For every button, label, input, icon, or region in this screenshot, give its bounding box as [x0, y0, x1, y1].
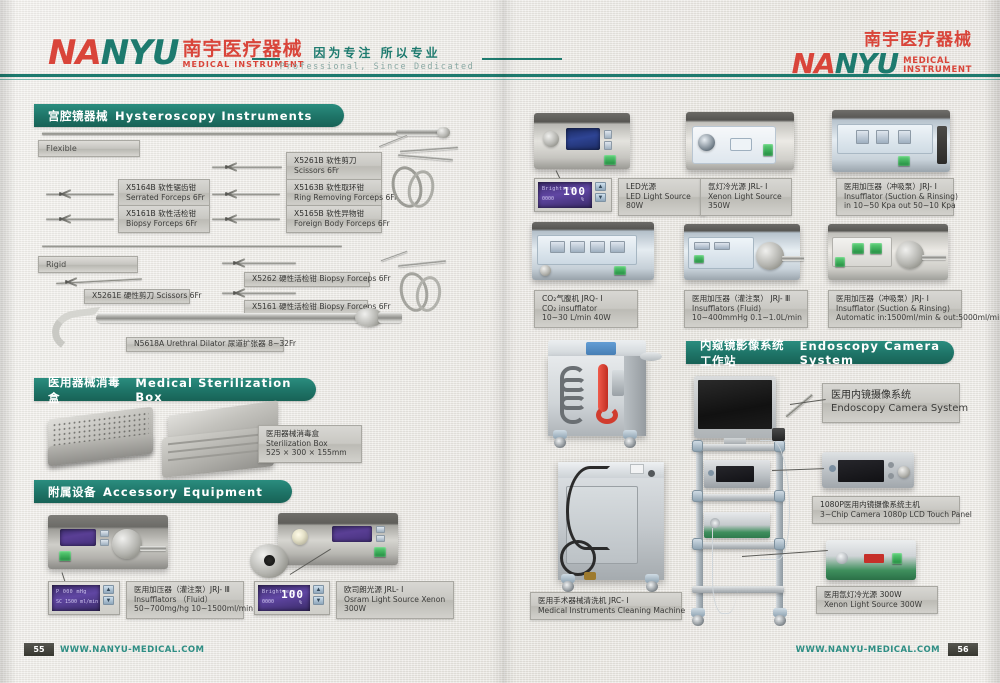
device-co2-insufflator [532, 222, 654, 280]
caption-fluid-spec: 10~400mmHg 0.1~1.0L/min [692, 313, 801, 323]
caption-insufflator-fluid-cn: 医用加压器（灌注泵）JRJ- Ⅲ [134, 585, 237, 595]
caption-xenon-cn: 氙灯冷光源 JRL- Ⅰ [708, 182, 785, 192]
device-power-button-fluid[interactable] [694, 255, 704, 263]
caption-insufflator-fluid-right: 医用加压器（灌注泵） JRJ- Ⅲ Insufflators (Fluid) 1… [684, 290, 808, 328]
lcd-key-up-led[interactable]: ▲ [595, 182, 606, 191]
caption-ring-en: Ring Removing Forceps 6Fr [294, 193, 375, 203]
cart-light-guide-cable [712, 528, 738, 614]
device-ccu-button-b[interactable] [888, 473, 894, 479]
device-xenon300-power-button[interactable] [892, 553, 902, 564]
device-roller-knob[interactable] [112, 529, 142, 559]
device-button-b[interactable] [100, 539, 109, 546]
lcd-key-down-led[interactable]: ▼ [595, 193, 606, 202]
page-number-right: 56 [948, 643, 978, 656]
device-display-co2-d [610, 241, 625, 253]
lcd-label2-osram: 0000 [262, 599, 274, 605]
caption-ring-cn: X5163B 软性取环钳 [294, 183, 375, 193]
caption-osram-spec: 300W [344, 604, 447, 614]
banner-cn-camera: 内窥镜影像系统工作站 [700, 337, 793, 369]
cart-camera-cable [760, 440, 790, 560]
flexible-scope-shaft [42, 132, 442, 135]
website-url-right[interactable]: WWW.NANYU-MEDICAL.COM [796, 645, 940, 655]
section-banner-hysteroscopy: 宫腔镜器械 Hysteroscopy Instruments [34, 104, 344, 127]
device-button-osram-a[interactable] [376, 526, 385, 533]
endoscopy-monitor-screen [698, 380, 772, 429]
device-led-light-source [534, 113, 630, 169]
tagline: 因为专注 所以专业 Professional, Since Dedicated [262, 44, 492, 72]
device-light-port-xenon [698, 134, 715, 151]
device-power-button-led[interactable] [604, 155, 616, 165]
device-display-insuff1-b [876, 130, 889, 144]
cleaning-machine-tray [640, 352, 662, 361]
caption-biopsy-flex-en: Biopsy Forceps 6Fr [126, 219, 203, 229]
caption-scissors-flex-en: Scissors 6Fr [294, 166, 375, 176]
device-indicator-insuff2-b [870, 243, 882, 254]
lcd-line1-insufflator: P 000 mHg [56, 589, 87, 595]
camera-head [772, 428, 785, 441]
device-xenon300-display [864, 554, 884, 563]
lcd-callout-insufflator: P 000 mHg SC 1500 ml/min ▲ ▼ [48, 581, 120, 615]
caption-insufflator-fluid: 医用加压器（灌注泵）JRJ- Ⅲ Insufflators （Fluid） 50… [126, 581, 244, 619]
lcd-keys-insufflator: ▲ ▼ [103, 585, 114, 611]
caption-led-en: LED Light Source [626, 192, 699, 202]
caption-rigid-scissors: X5261E 硬性剪刀 Scissors 6Fr [84, 289, 190, 304]
caption-ccu-en: 3~Chip Camera 1080p LCD Touch Panel [820, 510, 953, 520]
lcd-keys-osram: ▲ ▼ [313, 585, 324, 611]
tagline-rule-left [252, 58, 280, 60]
caption-insuff2-spec: Automatic in:1500ml/min & out:5000ml/min [836, 313, 955, 323]
cleaning-machine-logo [586, 342, 616, 355]
device-side-ports-insuff1 [937, 126, 947, 164]
caption-camera-system-en: Endoscopy Camera System [831, 403, 951, 416]
device-osram-light-source [278, 513, 398, 565]
group-tag-rigid: Rigid [38, 256, 138, 273]
cart-caster-left [690, 608, 706, 626]
cleaning-machine-nozzle [584, 572, 596, 580]
caption-xenon-spec: 350W [708, 201, 785, 211]
caption-insuff1-en: Insufflator (Suction & Rinsing) [844, 192, 947, 202]
caption-sterilization-box: 医用器械消毒盒 Sterilization Box 525 × 300 × 15… [258, 425, 362, 463]
caption-serrated-en: Serrated Forceps 6Fr [126, 193, 203, 203]
device-insufflator-fluid-right [684, 224, 800, 280]
cart-light-port [710, 518, 720, 528]
caption-serrated-cn: X5164B 软性锯齿钳 [126, 183, 203, 193]
endoscopy-monitor [694, 376, 776, 438]
device-display-insuff1-a [856, 130, 869, 144]
caption-dilator: N5618A Urethral Dilator 尿道扩张器 8~32Fr [126, 337, 284, 352]
page-gutter-shadow [492, 0, 516, 683]
tagline-chinese: 因为专注 所以专业 [262, 44, 492, 61]
caption-co2-en: CO₂ insufflator [542, 304, 631, 314]
caption-co2-spec: 10~30 L/min 40W [542, 313, 631, 323]
brand-logo-right: 南宇医疗器械 NANYU MEDICAL INSTRUMENT [792, 32, 972, 78]
page-header: NANYU 南宇医疗器械 MEDICAL INSTRUMENT 因为专注 所以专… [0, 0, 1000, 86]
device-ccu-knob[interactable] [829, 465, 836, 472]
device-tubing-insuff2 [922, 255, 946, 260]
caption-rigid-scissors-text: X5261E 硬性剪刀 Scissors 6Fr [92, 291, 201, 301]
tagline-rule-right [482, 58, 562, 60]
page-number-left: 55 [24, 643, 54, 656]
section-banner-accessory: 附属设备 Accessory Equipment [34, 480, 292, 503]
cleaning-machine-caster-1 [552, 430, 568, 448]
page-edge-left [0, 0, 16, 683]
lcd-key-down-insufflator[interactable]: ▼ [103, 596, 114, 605]
lcd-screen-insufflator: P 000 mHg SC 1500 ml/min [52, 585, 100, 611]
device-tubing-fluid [782, 256, 804, 261]
device-display-fluid-b [714, 242, 730, 250]
header-divider [0, 74, 1000, 77]
device-power-button-insuff2[interactable] [835, 257, 845, 267]
lcd-screen-osram: Brightness 0000 100 % [258, 585, 310, 611]
wordmark-na: NA [48, 33, 101, 73]
caption-sterilization-cn: 医用器械消毒盒 [266, 429, 355, 439]
lcd-key-up-osram[interactable]: ▲ [313, 585, 324, 594]
device-display-co2-b [570, 241, 585, 253]
device-xenon-300w [826, 540, 916, 580]
device-display-fluid-a [694, 242, 710, 250]
caption-cleaning-en: Medical Instruments Cleaning Machine [538, 606, 675, 616]
caption-serrated: X5164B 软性锯齿钳 Serrated Forceps 6Fr [118, 179, 210, 207]
lcd-callout-led: Brightness 0000 100 % ▲ ▼ [534, 178, 612, 212]
cleaning-machine-label [630, 464, 644, 474]
caption-insuff1-cn: 医用加压器（冲吸泵）JRJ- Ⅰ [844, 182, 947, 192]
caption-co2-insufflator: CO₂气腹机 JRQ- Ⅰ CO₂ insufflator 10~30 L/mi… [534, 290, 638, 328]
banner-en-hysteroscopy: Hysteroscopy Instruments [115, 109, 313, 123]
cart-caster-right [772, 608, 788, 626]
device-button-a[interactable] [100, 530, 109, 537]
caption-insuff2-en: Insufflator (Suction & Rinsing) [836, 304, 955, 314]
device-ccu-port [898, 466, 910, 478]
banner-cn-hysteroscopy: 宫腔镜器械 [48, 108, 108, 124]
caption-sterilization-size: 525 × 300 × 155mm [266, 448, 355, 458]
device-xenon300-port [836, 552, 848, 564]
caption-xenon-light-source: 氙灯冷光源 JRL- Ⅰ Xenon Light Source 350W [700, 178, 792, 216]
lcd-unit-led: % [581, 197, 584, 203]
instrument-shaft-biopsy-flex [46, 218, 114, 220]
device-power-button-osram[interactable] [374, 547, 386, 557]
cleaning-machine-cabinet-caster-1 [560, 574, 576, 592]
device-screen-insufflator [60, 529, 96, 546]
device-power-button-xenon[interactable] [763, 144, 773, 156]
catalog-page: NANYU 南宇医疗器械 MEDICAL INSTRUMENT 因为专注 所以专… [0, 0, 1000, 683]
cleaning-machine-knob[interactable] [648, 470, 655, 477]
caption-biopsy-flex-cn: X5161B 软性活检钳 [126, 209, 203, 219]
caption-ccu-1080p: 1080P医用内镜摄像系统主机 3~Chip Camera 1080p LCD … [812, 496, 960, 524]
caption-insuff1-spec: in 10~50 Kpa out 50~10 Kpa [844, 201, 947, 211]
lcd-line2-insufflator: SC 1500 ml/min [56, 599, 98, 605]
device-ccu-1080p [822, 452, 914, 488]
device-insufflator-fluid [48, 515, 168, 569]
caption-sterilization-en: Sterilization Box [266, 439, 355, 449]
cleaning-machine-caster-2 [622, 430, 638, 448]
caption-cleaning-machine: 医用手术器械清洗机 JRC- Ⅰ Medical Instruments Cle… [530, 592, 682, 620]
page-footer: 55 WWW.NANYU-MEDICAL.COM WWW.NANYU-MEDIC… [0, 641, 1000, 683]
instrument-shaft-ring [212, 193, 280, 195]
caption-co2-cn: CO₂气腹机 JRQ- Ⅰ [542, 294, 631, 304]
caption-rigid-biopsy-5262: X5262 硬性活检钳 Biopsy Forceps 6Fr [244, 272, 370, 287]
caption-ring: X5163B 软性取环钳 Ring Removing Forceps 6Fr [286, 179, 382, 207]
caption-xenon300-cn: 医用氙灯冷光源 300W [824, 590, 931, 600]
rigid-scope-shaft [42, 245, 342, 247]
instrument-shaft-scissors [212, 166, 282, 168]
section-banner-sterilization: 医用器械消毒盒 Medical Sterilization Box [34, 378, 316, 401]
device-insufflator-suction-2 [828, 224, 948, 280]
caption-foreign-en: Foreign Body Forceps 6Fr [294, 219, 375, 229]
caption-xenon300-en: Xenon Light Source 300W [824, 600, 931, 610]
caption-fluid-en: Insufflators (Fluid) [692, 304, 801, 314]
lcd-unit-osram: % [299, 600, 302, 606]
caption-scissors-flex: X5261B 软性剪刀 Scissors 6Fr [286, 152, 382, 180]
caption-foreign: X5165B 软性异物钳 Foreign Body Forceps 6Fr [286, 205, 382, 233]
device-display-co2-a [550, 241, 565, 253]
caption-insufflator-suction-2: 医用加压器（冲吸泵）JRJ- Ⅰ Insufflator (Suction & … [828, 290, 962, 328]
device-ccu-screen [838, 460, 884, 482]
device-power-button[interactable] [59, 551, 71, 561]
device-display-co2-c [590, 241, 605, 253]
device-button-osram-b[interactable] [376, 535, 385, 542]
caption-xenon-300w: 医用氙灯冷光源 300W Xenon Light Source 300W [816, 586, 938, 614]
caption-camera-system-cn: 医用内镜摄像系统 [831, 390, 951, 403]
flexible-scope-eyepiece [437, 127, 450, 138]
device-xenon-light-source [686, 112, 794, 170]
cleaning-machine-cabinet-caster-2 [644, 574, 660, 592]
device-knob-led[interactable] [543, 131, 559, 147]
caption-insufflator-fluid-spec: 50~700mg/hg 10~1500ml/min [134, 604, 237, 614]
instrument-shaft-serrated [46, 193, 114, 195]
caption-foreign-cn: X5165B 软性异物钳 [294, 209, 375, 219]
caption-rigid-biopsy-5262-text: X5262 硬性活检钳 Biopsy Forceps 6Fr [252, 274, 390, 284]
device-button-led-b[interactable] [604, 141, 612, 150]
section-banner-camera-system: 内窥镜影像系统工作站 Endoscopy Camera System [686, 341, 954, 364]
device-display-insuff1-c [898, 130, 911, 144]
wordmark-nyu: NYU [101, 33, 179, 73]
device-screen-osram [332, 526, 372, 542]
group-tag-rigid-label: Rigid [46, 260, 66, 269]
banner-en-camera: Endoscopy Camera System [800, 339, 954, 367]
lcd-callout-osram: Brightness 0000 100 % ▲ ▼ [254, 581, 330, 615]
device-power-button-insuff1[interactable] [898, 156, 910, 166]
cart-ccu-screen [716, 466, 754, 482]
device-screen-led [566, 128, 600, 150]
caption-led-spec: 80W [626, 201, 699, 211]
header-divider-thin [0, 79, 1000, 80]
caption-led-light-source: LED光源 LED Light Source 80W [618, 178, 706, 216]
group-tag-flexible-label: Flexible [46, 144, 77, 153]
device-control-panel-xenon[interactable] [730, 138, 752, 151]
banner-cn-sterilization: 医用器械消毒盒 [48, 374, 128, 406]
brand-wordmark: NANYU [48, 36, 178, 70]
cleaning-machine-spray-gun [612, 370, 624, 396]
caption-biopsy-flex: X5161B 软性活检钳 Biopsy Forceps 6Fr [118, 205, 210, 233]
caption-osram-en: Osram Light Source Xenon [344, 595, 447, 605]
cart-ccu-knob[interactable] [708, 470, 714, 476]
cart-shelf-4 [692, 586, 784, 593]
cleaning-machine-hose-black [566, 466, 610, 550]
caption-insuff2-cn: 医用加压器（冲吸泵）JRJ- Ⅰ [836, 294, 955, 304]
caption-insufflator-fluid-en: Insufflators （Fluid） [134, 595, 237, 605]
lcd-key-up-insufflator[interactable]: ▲ [103, 585, 114, 594]
device-power-button-co2[interactable] [614, 266, 626, 275]
banner-en-accessory: Accessory Equipment [103, 485, 263, 499]
cleaning-machine-hose-gray [560, 366, 586, 424]
caption-dilator-text: N5618A Urethral Dilator 尿道扩张器 8~32Fr [134, 339, 296, 349]
caption-osram: 欧司朗光源 JRL- Ⅰ Osram Light Source Xenon 30… [336, 581, 454, 619]
caption-insufflator-suction-1: 医用加压器（冲吸泵）JRJ- Ⅰ Insufflator (Suction & … [836, 178, 954, 216]
caption-fluid-cn: 医用加压器（灌注泵） JRJ- Ⅲ [692, 294, 801, 304]
caption-cleaning-cn: 医用手术器械清洗机 JRC- Ⅰ [538, 596, 675, 606]
caption-xenon-en: Xenon Light Source [708, 192, 785, 202]
lcd-screen-led: Brightness 0000 100 % [538, 182, 592, 208]
device-gas-port-co2 [540, 265, 551, 276]
page-edge-right [984, 0, 1000, 683]
group-tag-flexible: Flexible [38, 140, 140, 157]
banner-cn-accessory: 附属设备 [48, 484, 96, 500]
instrument-shaft-foreign [212, 218, 280, 220]
light-guide-center [264, 555, 275, 566]
caption-osram-cn: 欧司朗光源 JRL- Ⅰ [344, 585, 447, 595]
device-ccu-button-a[interactable] [888, 462, 894, 468]
endoscope-shaft [785, 393, 813, 417]
device-button-led-a[interactable] [604, 130, 612, 139]
caption-camera-system: 医用内镜摄像系统 Endoscopy Camera System [822, 383, 960, 423]
device-insufflator-suction-1 [832, 110, 950, 172]
caption-ccu-cn: 1080P医用内镜摄像系统主机 [820, 500, 953, 510]
lcd-key-down-osram[interactable]: ▼ [313, 596, 324, 605]
website-url-left[interactable]: WWW.NANYU-MEDICAL.COM [60, 645, 204, 655]
banner-en-sterilization: Medical Sterilization Box [135, 376, 316, 404]
lcd-label2-led: 0000 [542, 196, 554, 202]
device-light-port-osram [292, 529, 308, 545]
lcd-keys-led: ▲ ▼ [595, 182, 606, 208]
device-roller-pump-fluid[interactable] [756, 242, 784, 270]
device-roller-pump-insuff2[interactable] [896, 241, 924, 269]
cleaning-machine-hose-red [598, 364, 608, 412]
device-tubing-port [140, 546, 166, 551]
tagline-english: Professional, Since Dedicated [262, 62, 492, 72]
device-indicator-insuff2-a [852, 243, 864, 254]
caption-led-cn: LED光源 [626, 182, 699, 192]
caption-scissors-flex-cn: X5261B 软性剪刀 [294, 156, 375, 166]
